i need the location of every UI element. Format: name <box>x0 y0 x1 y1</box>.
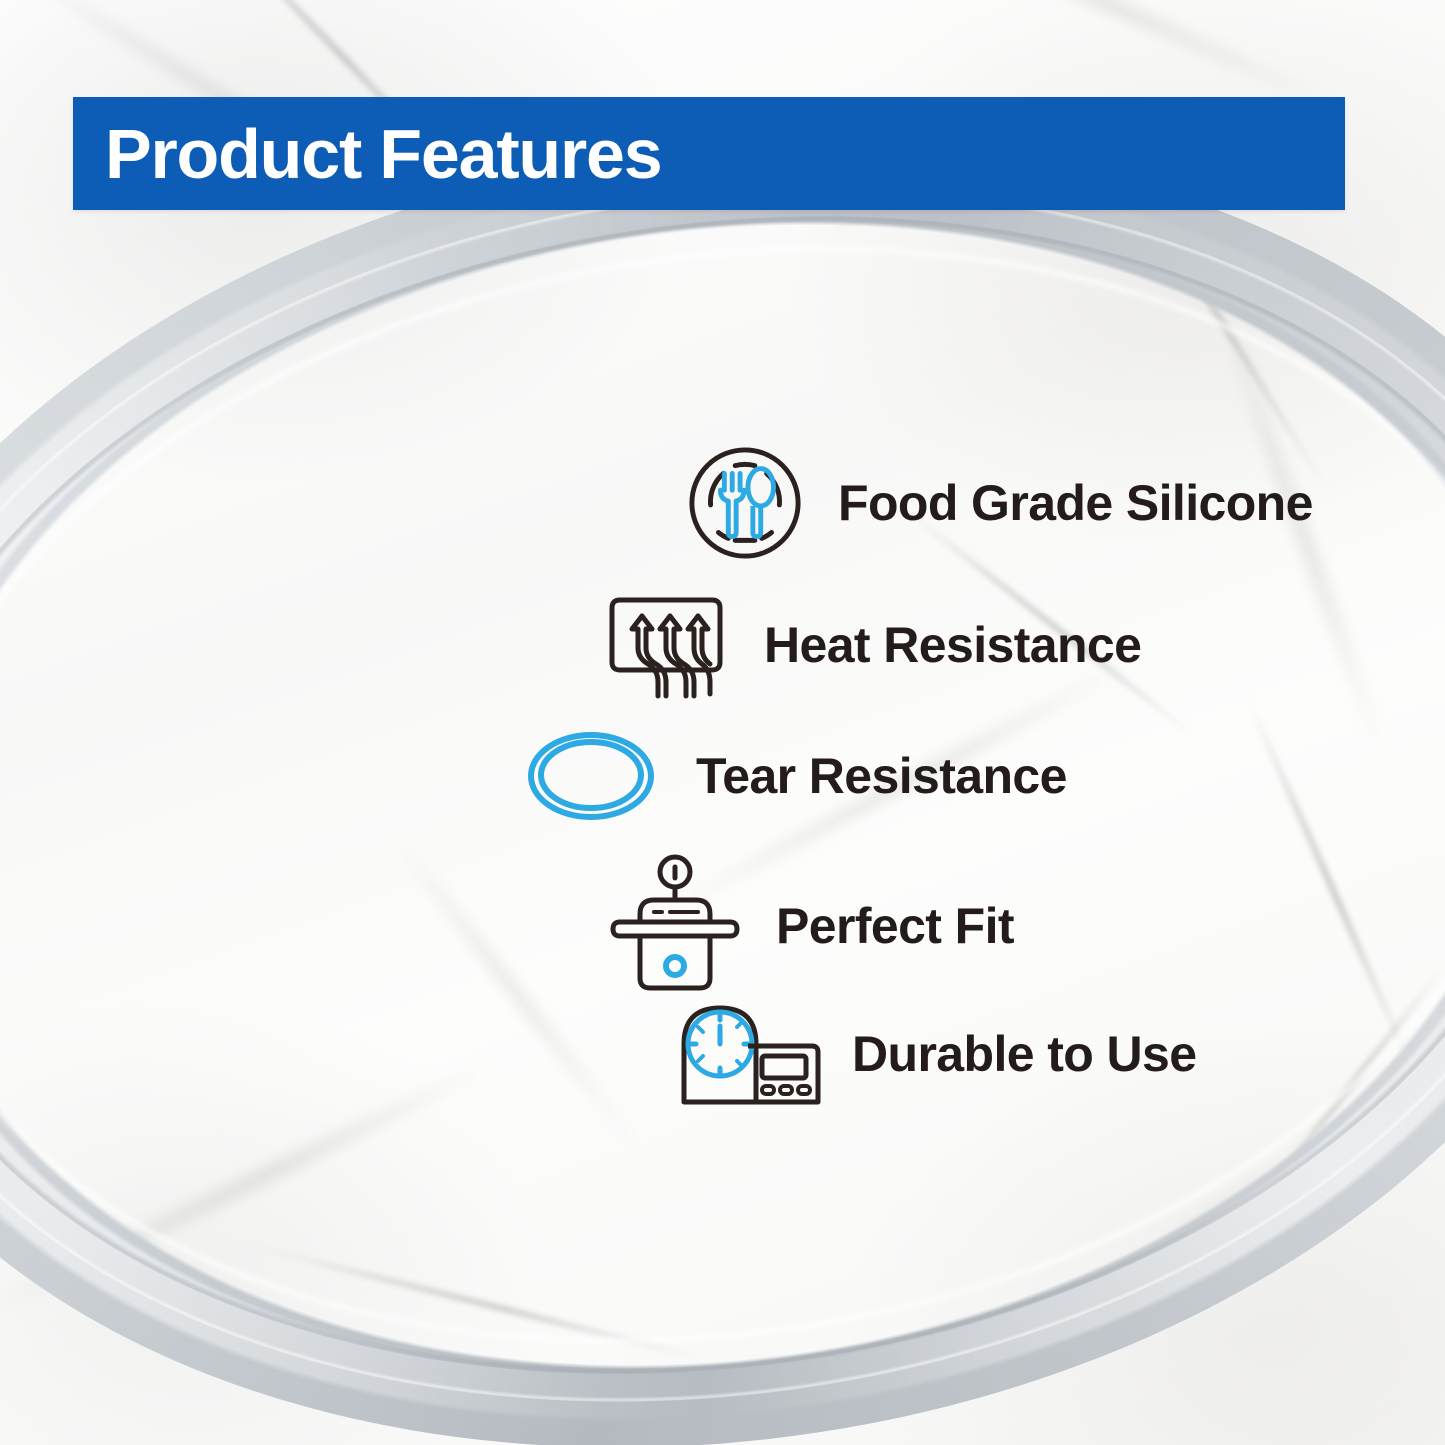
sealing-ring-ellipse-icon <box>526 728 656 824</box>
heat-arrows-icon <box>596 586 736 704</box>
feature-item-perfect-fit: Perfect Fit <box>600 852 1014 1000</box>
feature-label: Durable to Use <box>852 1029 1196 1079</box>
feature-item-food-grade-silicone: Food Grade Silicone <box>686 444 1313 562</box>
feature-label: Perfect Fit <box>776 901 1014 951</box>
clock-appliance-icon <box>678 998 824 1110</box>
page-title: Product Features <box>105 119 662 189</box>
pressure-cooker-icon <box>600 852 750 1000</box>
infographic-canvas: Product Features <box>0 0 1445 1445</box>
feature-label: Tear Resistance <box>696 751 1067 801</box>
feature-item-heat-resistance: Heat Resistance <box>596 586 1141 704</box>
title-banner: Product Features <box>73 97 1345 210</box>
feature-item-durable-to-use: Durable to Use <box>678 998 1196 1110</box>
feature-label: Food Grade Silicone <box>838 478 1313 528</box>
feature-item-tear-resistance: Tear Resistance <box>526 728 1067 824</box>
feature-label: Heat Resistance <box>764 620 1141 670</box>
plate-fork-spoon-icon <box>686 444 804 562</box>
